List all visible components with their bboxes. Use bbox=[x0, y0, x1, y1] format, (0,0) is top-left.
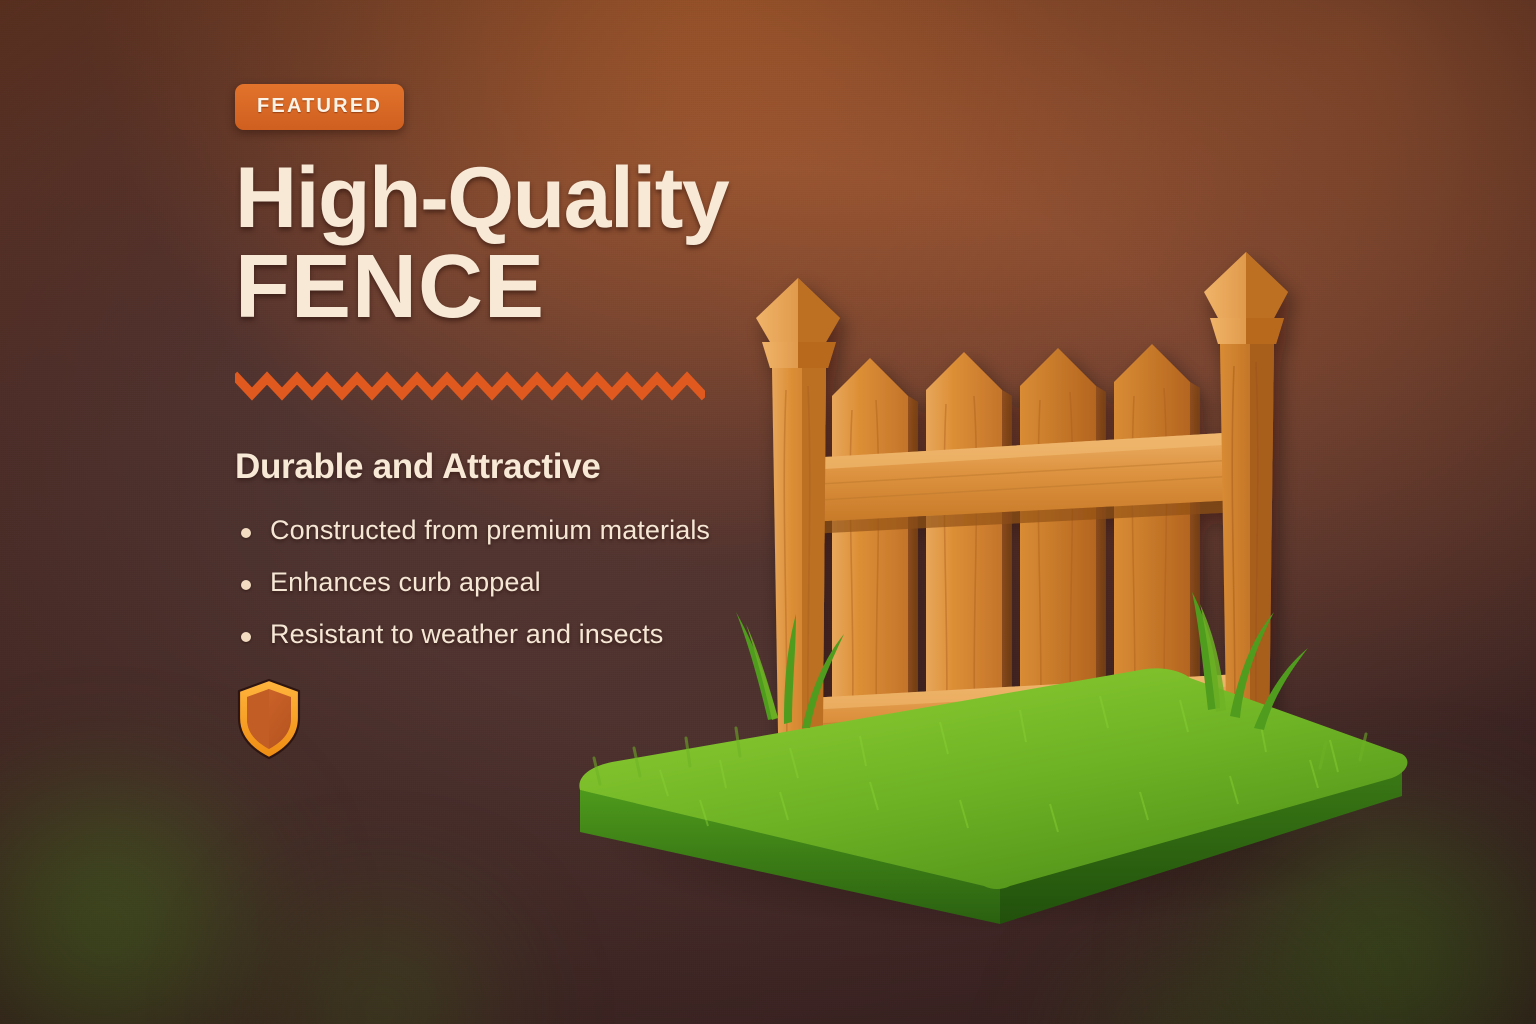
list-item: Enhances curb appeal bbox=[235, 567, 875, 598]
bokeh-blob-left bbox=[0, 760, 320, 1024]
subheading: Durable and Attractive bbox=[235, 447, 875, 487]
text-content: FEATURED High-Quality FENCE Durable and … bbox=[235, 0, 875, 760]
headline-line-1: High-Quality bbox=[235, 150, 728, 246]
bokeh-blob-left-lower bbox=[200, 880, 560, 1024]
shield-icon bbox=[235, 678, 303, 760]
headline-line-2: FENCE bbox=[235, 245, 875, 330]
feature-list: Constructed from premium materials Enhan… bbox=[235, 515, 875, 650]
zigzag-divider bbox=[235, 369, 705, 403]
bokeh-blob-right-lower bbox=[1006, 930, 1386, 1024]
page-title: High-Quality FENCE bbox=[235, 158, 875, 329]
featured-badge[interactable]: FEATURED bbox=[235, 84, 404, 130]
list-item: Constructed from premium materials bbox=[235, 515, 875, 546]
list-item: Resistant to weather and insects bbox=[235, 619, 875, 650]
